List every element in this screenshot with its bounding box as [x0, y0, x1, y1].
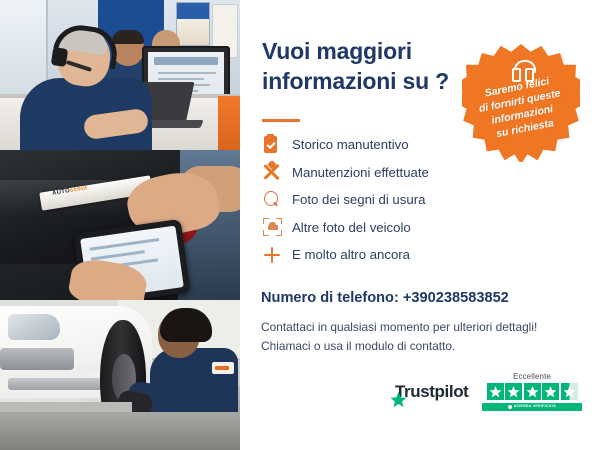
page-title-line-2: informazioni su ?	[262, 66, 472, 96]
contact-instructions: Contattaci in qualsiasi momento per ulte…	[261, 318, 581, 356]
title-underline-divider	[262, 119, 300, 122]
plus-icon	[260, 244, 286, 266]
verified-business-badge: AZIENDA VERIFICATA	[482, 403, 582, 411]
trustpilot-rating: Eccellente	[482, 372, 582, 411]
star-rating	[482, 383, 582, 400]
feature-label: Altre foto del veicolo	[292, 221, 411, 234]
list-item: Manutenzioni effettuate	[260, 159, 560, 187]
clipboard-check-icon	[260, 134, 286, 156]
contact-instructions-line-1: Contattaci in qualsiasi momento per ulte…	[261, 318, 581, 337]
feature-label: Storico manutentivo	[292, 138, 409, 151]
feature-label: E molto altro ancora	[292, 248, 410, 261]
phone-number-line[interactable]: Numero di telefono: +390238583852	[261, 290, 509, 306]
trustpilot-logo: Trustpilot	[390, 382, 468, 402]
rating-star-3	[524, 383, 541, 400]
tools-icon	[260, 161, 286, 183]
scan-car-icon	[260, 216, 286, 238]
list-item: Foto dei segni di usura	[260, 186, 560, 214]
list-item: Altre foto del veicolo	[260, 214, 560, 242]
garage-wheel-check-photo	[0, 300, 240, 450]
promo-banner: AUTOscout	[0, 0, 600, 450]
page-title-line-1: Vuoi maggiori	[262, 36, 472, 66]
list-item: Storico manutentivo	[260, 131, 560, 159]
feature-label: Foto dei segni di usura	[292, 193, 425, 206]
list-item: E molto altro ancora	[260, 241, 560, 269]
call-center-agents-photo	[0, 0, 240, 150]
verified-label: AZIENDA VERIFICATA	[514, 405, 556, 409]
rating-star-1	[487, 383, 504, 400]
rating-label: Eccellente	[482, 372, 582, 381]
photo-column: AUTOscout	[0, 0, 240, 450]
feature-list: Storico manutentivo Manutenzioni effettu…	[260, 131, 560, 269]
trustpilot-widget[interactable]: Trustpilot Eccellente	[390, 372, 590, 416]
check-icon	[508, 405, 512, 409]
content-panel: Vuoi maggiori informazioni su ? Saremo f…	[240, 0, 600, 450]
feature-label: Manutenzioni effettuate	[292, 166, 429, 179]
vehicle-inspection-photo: AUTOscout	[0, 150, 240, 300]
rating-star-5-half	[561, 383, 578, 400]
contact-instructions-line-2: Chiamaci o usa il modulo di contatto.	[261, 337, 581, 356]
rating-star-4	[542, 383, 559, 400]
page-title: Vuoi maggiori informazioni su ?	[262, 36, 472, 96]
rating-star-2	[505, 383, 522, 400]
search-icon	[260, 189, 286, 211]
